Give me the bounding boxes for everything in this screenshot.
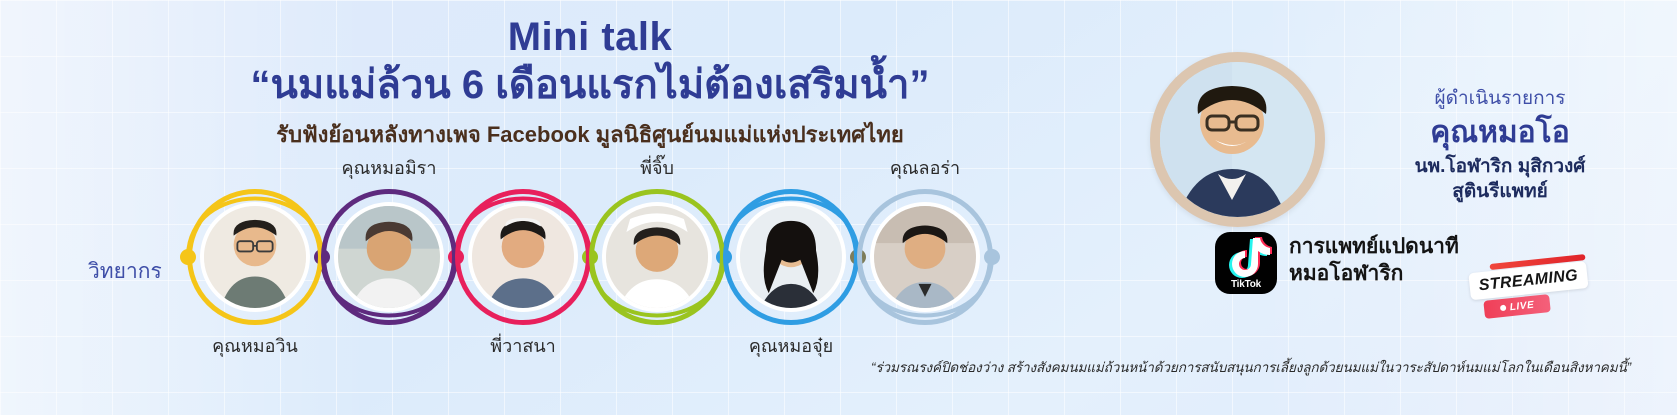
speaker-node[interactable]: พี่วาสนา: [455, 189, 591, 325]
host-panel: ผู้ดำเนินรายการ คุณหมอโอ นพ.โอฬาริก มุสิ…: [1120, 48, 1677, 248]
live-dot-icon: [1500, 305, 1507, 312]
channel-name: การแพทย์แปดนาที หมอโอฬาริก: [1289, 234, 1459, 288]
speaker-avatar: [468, 202, 578, 312]
headline-block: Mini talk “นมแม่ล้วน 6 เดือนแรกไม่ต้องเส…: [0, 16, 1180, 148]
portrait-icon: [338, 206, 440, 308]
channel-name-line1: การแพทย์แปดนาที: [1289, 234, 1459, 261]
footer-caption: “ร่วมรณรงค์ปิดช่องว่าง สร้างสังคมนมแม่ถ้…: [836, 356, 1666, 378]
speaker-node[interactable]: คุณลอร่า: [857, 189, 993, 325]
host-specialty: สูตินรีแพทย์: [1335, 180, 1665, 205]
portrait-icon: [472, 206, 574, 308]
portrait-icon: [204, 206, 306, 308]
speaker-timeline: วิทยากร: [0, 185, 1100, 355]
portrait-icon: [740, 206, 842, 308]
host-full-name: นพ.โอฬาริก มุสิกวงศ์: [1335, 155, 1665, 180]
speaker-node[interactable]: คุณหมอจุ๋ย: [723, 189, 859, 325]
speaker-node[interactable]: พี่จิ๊บ: [589, 189, 725, 325]
event-banner: Mini talk “นมแม่ล้วน 6 เดือนแรกไม่ต้องเส…: [0, 0, 1677, 415]
portrait-icon: [606, 206, 708, 308]
streaming-label-plate: STREAMING: [1468, 261, 1588, 300]
speaker-name: พี่วาสนา: [403, 331, 643, 360]
speaker-name: คุณลอร่า: [805, 153, 1045, 182]
speaker-avatar: [200, 202, 310, 312]
speaker-avatar: [870, 202, 980, 312]
channel-row: TikTok การแพทย์แปดนาที หมอโอฬาริก STREAM…: [1215, 232, 1675, 312]
host-portrait-icon: [1160, 62, 1315, 217]
streaming-badge: STREAMING LIVE: [1468, 256, 1592, 316]
host-name: คุณหมอโอ: [1335, 113, 1665, 154]
tiktok-note-glyph: [1215, 232, 1277, 280]
host-avatar: [1160, 62, 1315, 217]
speaker-avatar: [736, 202, 846, 312]
streaming-label: STREAMING: [1478, 266, 1579, 294]
tiktok-wordmark: TikTok: [1215, 279, 1277, 290]
talk-topic-title: “นมแม่ล้วน 6 เดือนแรกไม่ต้องเสริมน้ำ”: [0, 60, 1180, 110]
speaker-avatar: [602, 202, 712, 312]
portrait-icon: [874, 206, 976, 308]
host-details: ผู้ดำเนินรายการ คุณหมอโอ นพ.โอฬาริก มุสิ…: [1335, 88, 1665, 205]
speaker-node[interactable]: คุณหมอมิรา: [321, 189, 457, 325]
channel-name-line2: หมอโอฬาริก: [1289, 261, 1459, 288]
tiktok-icon[interactable]: TikTok: [1215, 232, 1277, 294]
speaker-avatar: [334, 202, 444, 312]
host-avatar-frame: [1150, 52, 1325, 227]
speaker-name: พี่จิ๊บ: [537, 153, 777, 182]
speaker-name: คุณหมอมิรา: [269, 153, 509, 182]
speaker-name: คุณหมอวิน: [135, 331, 375, 360]
replay-subtitle: รับฟังย้อนหลังทางเพจ Facebook มูลนิธิศูน…: [0, 122, 1180, 148]
live-label: LIVE: [1509, 299, 1535, 313]
host-role-label: ผู้ดำเนินรายการ: [1335, 88, 1665, 111]
page-title: Mini talk: [0, 16, 1180, 58]
speaker-node[interactable]: คุณหมอวิน: [187, 189, 323, 325]
